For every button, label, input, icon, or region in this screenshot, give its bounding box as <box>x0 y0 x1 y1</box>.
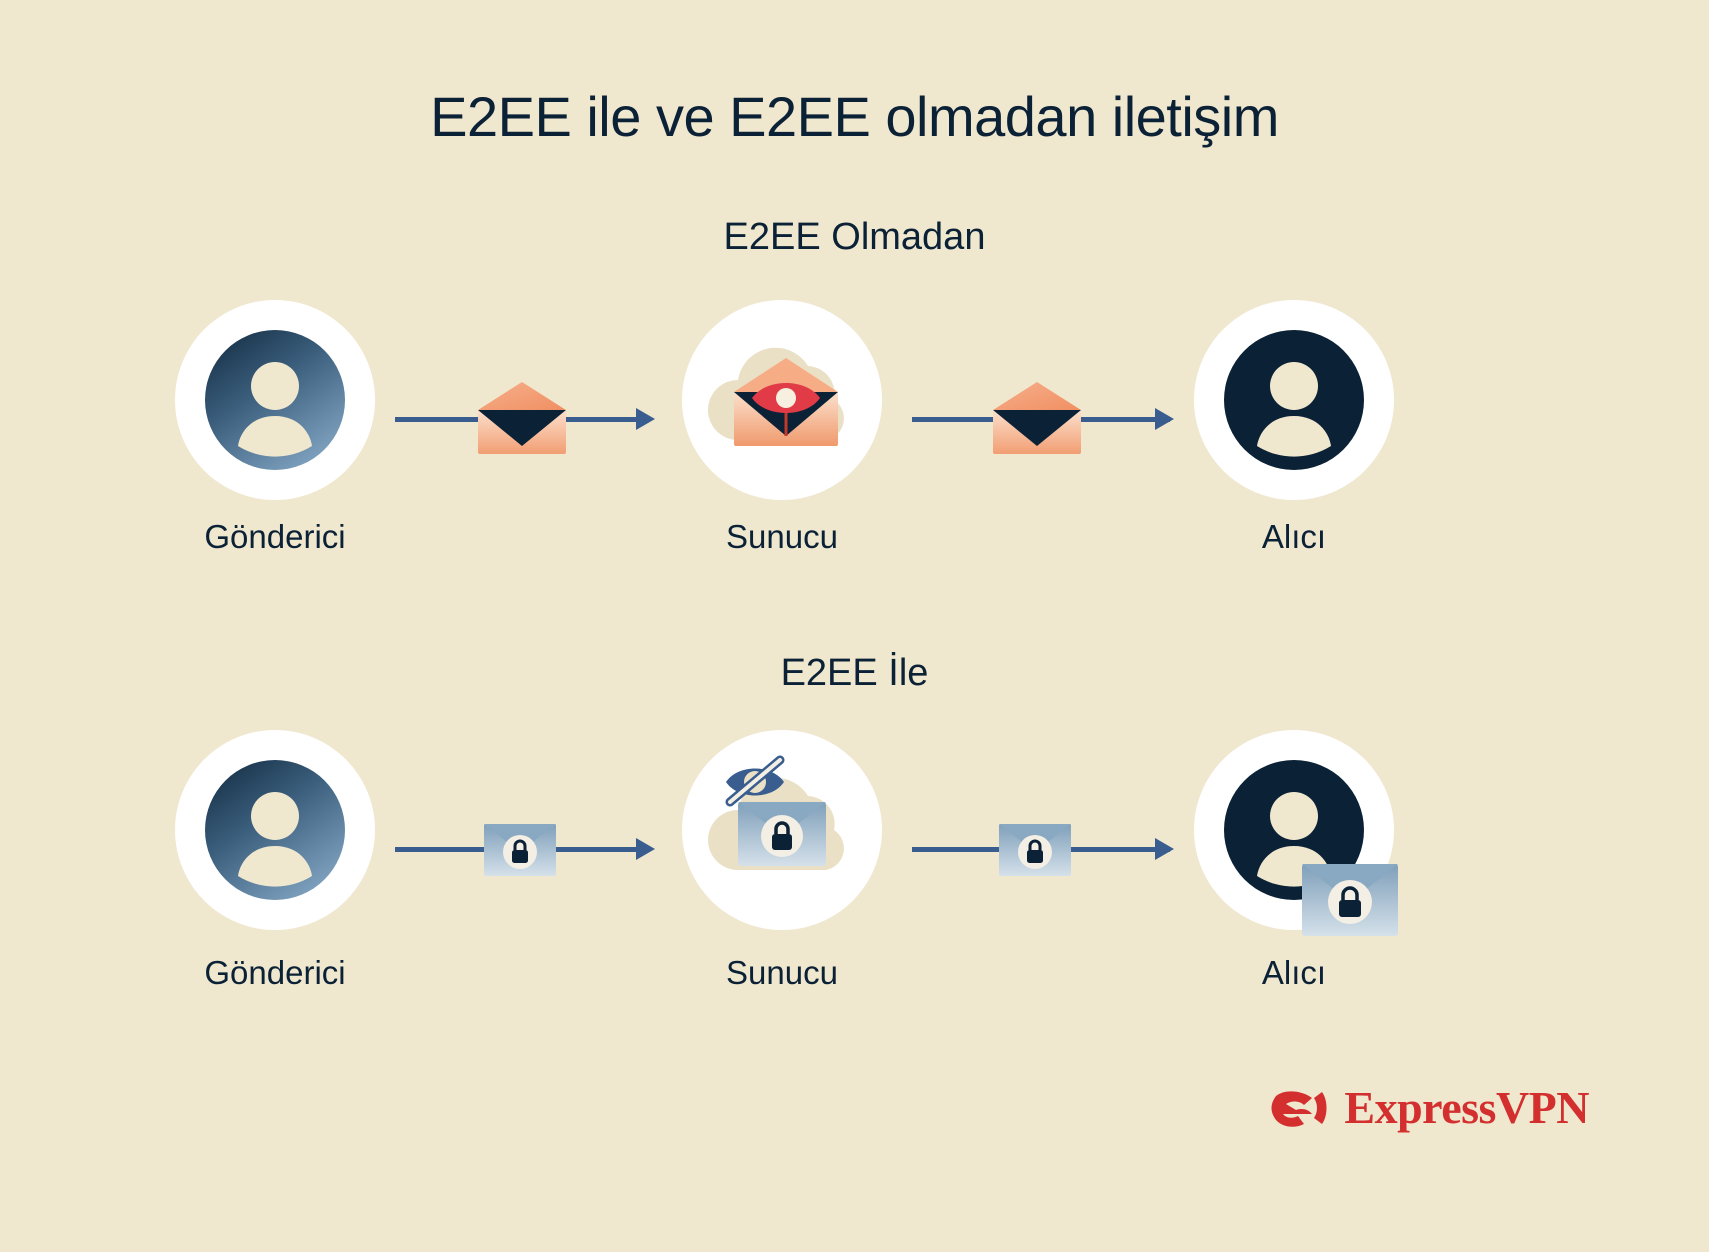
node-server-with-e2ee: Sunucu <box>652 730 912 992</box>
node-label-server: Sunucu <box>652 954 912 992</box>
node-sender-with-e2ee: Gönderici <box>145 730 405 992</box>
sender-disc <box>175 300 375 500</box>
user-avatar-dark-icon <box>1224 330 1364 470</box>
open-envelope-icon-transit-2 <box>989 382 1085 461</box>
expressvpn-logo-mark <box>1268 1082 1330 1134</box>
locked-envelope-icon-transit-2 <box>997 822 1073 883</box>
locked-envelope-icon <box>736 800 828 868</box>
page-title: E2EE ile ve E2EE olmadan iletişim <box>0 84 1709 149</box>
open-envelope-glyph-icon <box>474 382 570 456</box>
open-envelope-with-eye-icon <box>730 358 842 450</box>
node-label-server: Sunucu <box>652 518 912 556</box>
server-disc <box>682 300 882 500</box>
person-glyph-icon <box>205 760 345 900</box>
node-label-sender: Gönderici <box>145 518 405 556</box>
node-label-receiver: Alıcı <box>1164 518 1424 556</box>
locked-envelope-icon-transit-1 <box>482 822 558 883</box>
section-heading-with-e2ee: E2EE İle <box>0 652 1709 695</box>
user-avatar-gradient-icon <box>205 760 345 900</box>
open-envelope-icon-transit-1 <box>474 382 570 461</box>
receiver-disc <box>1194 300 1394 500</box>
infographic-canvas: E2EE ile ve E2EE olmadan iletişim E2EE O… <box>0 0 1709 1252</box>
locked-envelope-glyph-icon <box>997 822 1073 878</box>
person-glyph-icon <box>1224 330 1364 470</box>
node-label-sender: Gönderici <box>145 954 405 992</box>
locked-envelope-glyph-icon <box>482 822 558 878</box>
expressvpn-logo: ExpressVPN <box>1268 1081 1589 1134</box>
node-receiver-with-e2ee: Alıcı <box>1164 730 1424 992</box>
expressvpn-logo-text: ExpressVPN <box>1344 1081 1589 1134</box>
server-disc <box>682 730 882 930</box>
flow-row-without-e2ee: Gönderici <box>0 300 1709 570</box>
open-envelope-glyph-icon <box>989 382 1085 456</box>
receiver-disc <box>1194 730 1394 930</box>
node-label-receiver: Alıcı <box>1164 954 1424 992</box>
node-sender-without-e2ee: Gönderici <box>145 300 405 556</box>
user-avatar-gradient-icon <box>205 330 345 470</box>
sender-disc <box>175 730 375 930</box>
locked-envelope-received-icon <box>1300 862 1400 938</box>
section-heading-without-e2ee: E2EE Olmadan <box>0 216 1709 259</box>
node-receiver-without-e2ee: Alıcı <box>1164 300 1424 556</box>
flow-row-with-e2ee: Gönderici <box>0 730 1709 1000</box>
person-glyph-icon <box>205 330 345 470</box>
node-server-without-e2ee: Sunucu <box>652 300 912 556</box>
